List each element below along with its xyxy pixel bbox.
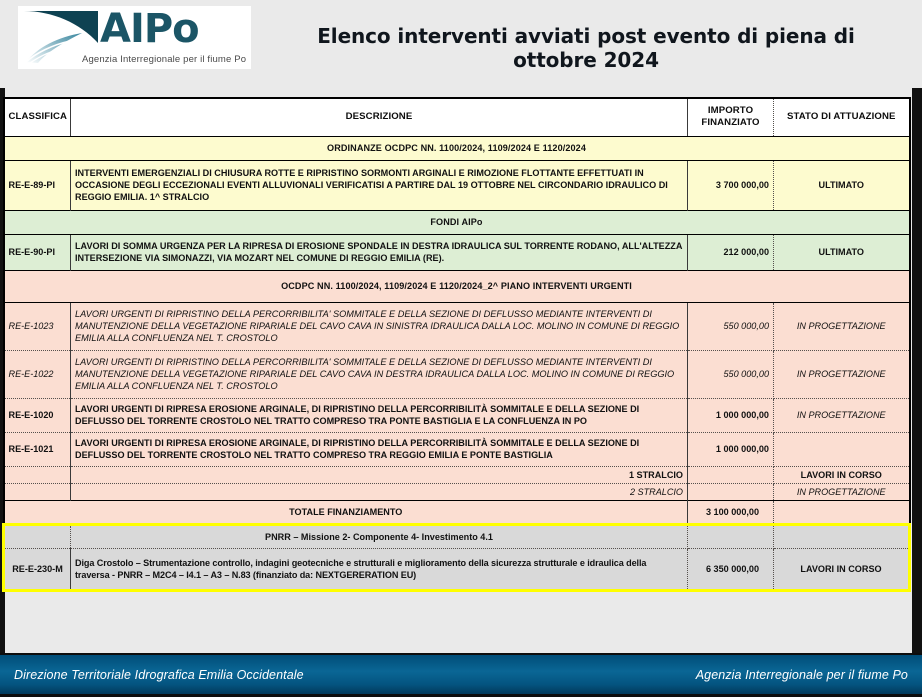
section-banner-row: FONDI AIPo: [4, 210, 910, 234]
cell-stato: LAVORI IN CORSO: [774, 548, 910, 590]
cell-classifica: RE-E-1022: [4, 350, 71, 398]
table-row[interactable]: RE-E-1021 LAVORI URGENTI DI RIPRESA EROS…: [4, 432, 910, 466]
cell-stato: IN PROGETTAZIONE: [774, 350, 910, 398]
cell-stato: LAVORI IN CORSO: [774, 466, 910, 483]
cell-classifica: RE-E-230-M: [4, 548, 71, 590]
cell-classifica: RE-E-89-PI: [4, 160, 71, 210]
table-row[interactable]: RE-E-230-M Diga Crostolo – Strumentazion…: [4, 548, 910, 590]
cell-classifica: RE-E-1020: [4, 398, 71, 432]
cell-importo: [688, 466, 774, 483]
table-row[interactable]: RE-E-89-PI INTERVENTI EMERGENZIALI DI CH…: [4, 160, 910, 210]
section-banner-row: OCDPC NN. 1100/2024, 1109/2024 E 1120/20…: [4, 270, 910, 302]
table-subrow[interactable]: 2 STRALCIO IN PROGETTAZIONE: [4, 483, 910, 500]
aipo-logo-text: AIPo: [100, 6, 199, 54]
cell-importo: [688, 483, 774, 500]
cell-importo: 1 000 000,00: [688, 398, 774, 432]
aipo-logo-tagline: Agenzia Interregionale per il fiume Po: [82, 54, 246, 65]
cell-stato: IN PROGETTAZIONE: [774, 302, 910, 350]
cell-importo: 1 000 000,00: [688, 432, 774, 466]
cell-descrizione: Diga Crostolo – Strumentazione controllo…: [71, 548, 688, 590]
section-banner-row: PNRR – Missione 2- Componente 4- Investi…: [4, 524, 910, 548]
interventions-table: CLASSIFICA DESCRIZIONE IMPORTO FINANZIAT…: [2, 97, 911, 592]
table-row[interactable]: RE-E-1022 LAVORI URGENTI DI RIPRISTINO D…: [4, 350, 910, 398]
cell-descrizione: LAVORI DI SOMMA URGENZA PER LA RIPRESA D…: [71, 234, 688, 270]
table-subrow[interactable]: 1 STRALCIO LAVORI IN CORSO: [4, 466, 910, 483]
cell-descrizione: INTERVENTI EMERGENZIALI DI CHIUSURA ROTT…: [71, 160, 688, 210]
cell-descrizione: LAVORI URGENTI DI RIPRISTINO DELLA PERCO…: [71, 350, 688, 398]
cell-classifica-empty: [4, 483, 71, 500]
section-banner-ordinanze: ORDINANZE OCDPC NN. 1100/2024, 1109/2024…: [4, 136, 910, 160]
cell-classifica: RE-E-90-PI: [4, 234, 71, 270]
cell-stato: ULTIMATO: [774, 234, 910, 270]
table-row[interactable]: RE-E-90-PI LAVORI DI SOMMA URGENZA PER L…: [4, 234, 910, 270]
cell-importo: 550 000,00: [688, 350, 774, 398]
cell-descrizione: LAVORI URGENTI DI RIPRESA EROSIONE ARGIN…: [71, 432, 688, 466]
page-title: Elenco interventi avviati post evento di…: [276, 24, 896, 72]
cell-importo: 550 000,00: [688, 302, 774, 350]
cell-descrizione: LAVORI URGENTI DI RIPRISTINO DELLA PERCO…: [71, 302, 688, 350]
footer-left-text: Direzione Territoriale Idrografica Emili…: [14, 668, 304, 682]
slide-header: AIPo Agenzia Interregionale per il fiume…: [0, 0, 922, 88]
cell-stato: IN PROGETTAZIONE: [774, 483, 910, 500]
cell-descrizione: LAVORI URGENTI DI RIPRESA EROSIONE ARGIN…: [71, 398, 688, 432]
section-banner-ocdpc-2piano: OCDPC NN. 1100/2024, 1109/2024 E 1120/20…: [4, 270, 910, 302]
section-banner-fondi-aipo: FONDI AIPo: [4, 210, 910, 234]
cell-classifica: RE-E-1023: [4, 302, 71, 350]
col-header-importo-line1: IMPORTO: [692, 105, 769, 118]
cell-classifica-empty: [4, 466, 71, 483]
total-value: 3 100 000,00: [688, 500, 774, 524]
pnrr-classifica-empty: [4, 524, 71, 548]
cell-stralcio-label: 1 STRALCIO: [71, 466, 688, 483]
total-stato-empty: [774, 500, 910, 524]
cell-stato: IN PROGETTAZIONE: [774, 398, 910, 432]
cell-importo: 3 700 000,00: [688, 160, 774, 210]
cell-stato: [774, 432, 910, 466]
pnrr-importo-empty: [688, 524, 774, 548]
cell-importo: 6 350 000,00: [688, 548, 774, 590]
interventions-table-wrapper: CLASSIFICA DESCRIZIONE IMPORTO FINANZIAT…: [2, 97, 908, 592]
slide-footer: Direzione Territoriale Idrografica Emili…: [0, 653, 922, 697]
col-header-importo-line2: FINANZIATO: [692, 117, 769, 130]
pnrr-stato-empty: [774, 524, 910, 548]
cell-classifica: RE-E-1021: [4, 432, 71, 466]
section-banner-pnrr: PNRR – Missione 2- Componente 4- Investi…: [71, 524, 688, 548]
section-banner-row: ORDINANZE OCDPC NN. 1100/2024, 1109/2024…: [4, 136, 910, 160]
col-header-classifica: CLASSIFICA: [4, 98, 71, 136]
table-row[interactable]: RE-E-1023 LAVORI URGENTI DI RIPRISTINO D…: [4, 302, 910, 350]
col-header-importo: IMPORTO FINANZIATO: [688, 98, 774, 136]
col-header-stato: STATO DI ATTUAZIONE: [774, 98, 910, 136]
total-label: TOTALE FINANZIAMENTO: [4, 500, 688, 524]
footer-right-text: Agenzia Interregionale per il fiume Po: [696, 668, 908, 682]
slide-right-edge: [912, 0, 922, 697]
aipo-logo: AIPo Agenzia Interregionale per il fiume…: [18, 6, 251, 69]
table-header-row: CLASSIFICA DESCRIZIONE IMPORTO FINANZIAT…: [4, 98, 910, 136]
cell-importo: 212 000,00: [688, 234, 774, 270]
cell-stato: ULTIMATO: [774, 160, 910, 210]
cell-stralcio-label: 2 STRALCIO: [71, 483, 688, 500]
table-row[interactable]: RE-E-1020 LAVORI URGENTI DI RIPRESA EROS…: [4, 398, 910, 432]
table-total-row: TOTALE FINANZIAMENTO 3 100 000,00: [4, 500, 910, 524]
col-header-descrizione: DESCRIZIONE: [71, 98, 688, 136]
slide-canvas: AIPo Agenzia Interregionale per il fiume…: [0, 0, 922, 697]
